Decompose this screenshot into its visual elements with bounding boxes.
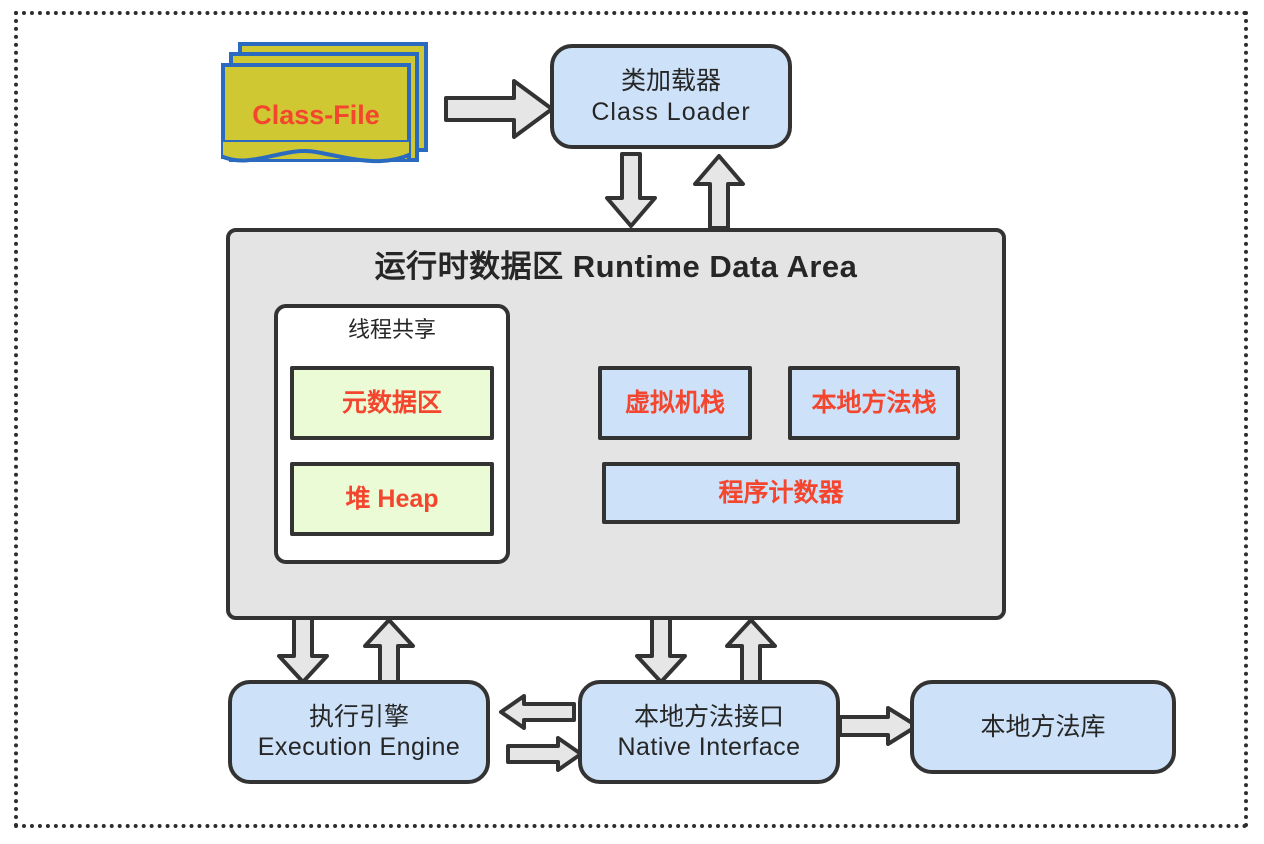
execution-engine-label-en: Execution Engine <box>258 732 461 763</box>
native-interface-label-en: Native Interface <box>617 732 800 763</box>
arrow-native-interface-to-native-library <box>838 706 920 746</box>
arrow-runtime-to-classloader-up <box>692 152 746 230</box>
runtime-data-area-title: 运行时数据区 Runtime Data Area <box>230 248 1002 286</box>
arrow-classloader-to-runtime-down <box>604 152 658 230</box>
vm-stack-node[interactable]: 虚拟机栈 <box>598 366 752 440</box>
arrow-execution-engine-to-runtime-up <box>362 616 416 686</box>
program-counter-node[interactable]: 程序计数器 <box>602 462 960 524</box>
native-interface-label-cn: 本地方法接口 <box>634 702 784 733</box>
arrow-runtime-to-execution-engine-down <box>276 616 330 686</box>
arrow-native-interface-to-execution-engine-left <box>498 694 576 730</box>
program-counter-label: 程序计数器 <box>718 478 843 509</box>
arrow-classfile-to-classloader <box>444 76 556 142</box>
class-loader-label-cn: 类加载器 <box>621 66 721 97</box>
class-loader-label-en: Class Loader <box>591 97 750 128</box>
class-file-label: Class-File <box>221 100 411 131</box>
heap-node[interactable]: 堆 Heap <box>290 462 494 536</box>
class-loader-node[interactable]: 类加载器 Class Loader <box>550 44 792 149</box>
thread-shared-title: 线程共享 <box>278 317 506 344</box>
arrow-native-interface-to-runtime-up <box>724 616 778 686</box>
native-method-stack-label: 本地方法栈 <box>811 388 936 419</box>
native-method-library-label-cn: 本地方法库 <box>980 712 1105 743</box>
metaspace-label: 元数据区 <box>342 388 442 419</box>
native-method-stack-node[interactable]: 本地方法栈 <box>788 366 960 440</box>
arrow-runtime-to-native-interface-down <box>634 616 688 686</box>
execution-engine-node[interactable]: 执行引擎 Execution Engine <box>228 680 490 784</box>
vm-stack-label: 虚拟机栈 <box>625 388 725 419</box>
native-method-library-node[interactable]: 本地方法库 <box>910 680 1176 774</box>
class-file-wavy-edge <box>221 140 411 168</box>
metaspace-node[interactable]: 元数据区 <box>290 366 494 440</box>
execution-engine-label-cn: 执行引擎 <box>309 702 409 733</box>
heap-label: 堆 Heap <box>345 484 438 515</box>
diagram-canvas: Class-File 类加载器 Class Loader 运行时数据区 Runt… <box>0 0 1264 844</box>
native-interface-node[interactable]: 本地方法接口 Native Interface <box>578 680 840 784</box>
arrow-execution-engine-to-native-interface-right <box>506 736 584 772</box>
